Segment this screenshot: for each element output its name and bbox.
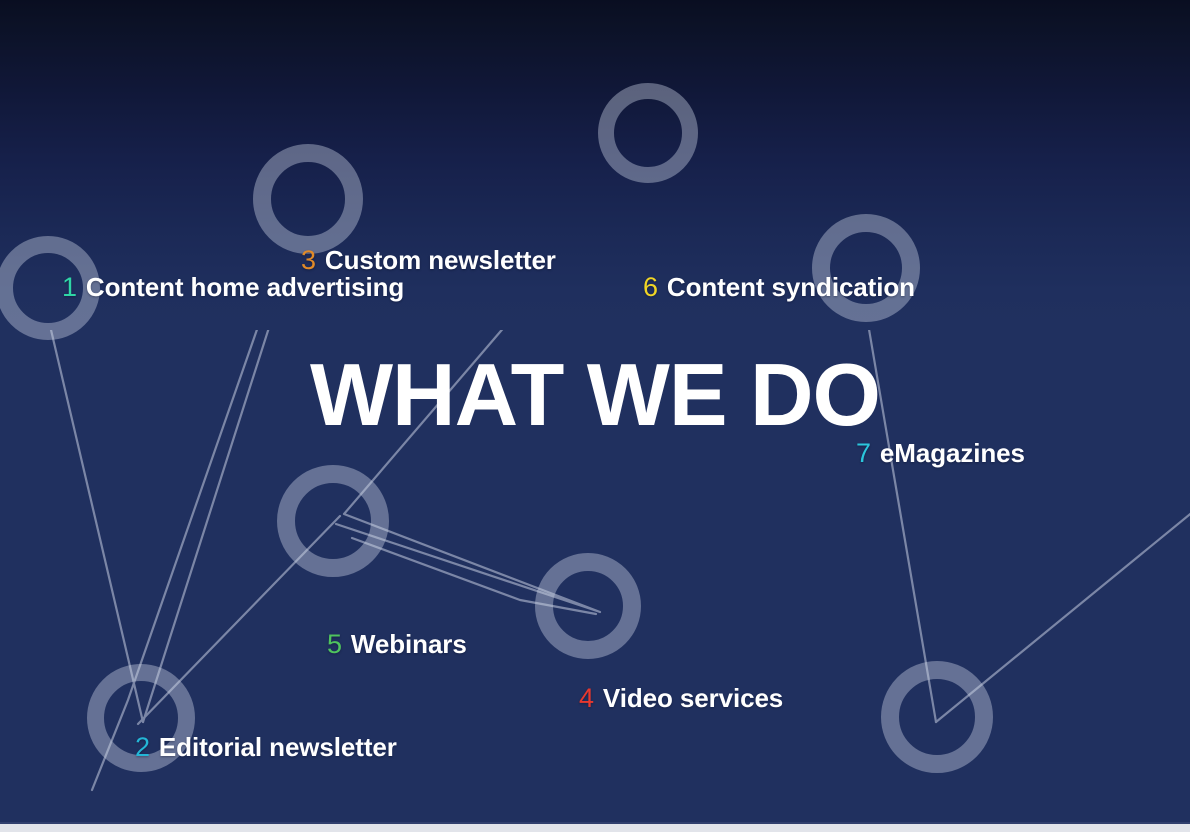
node-label-7: eMagazines bbox=[880, 438, 1025, 469]
node-label-4: Video services bbox=[603, 683, 783, 714]
ring-marker-6 bbox=[598, 83, 698, 183]
node-4[interactable]: 4Video services bbox=[579, 683, 1190, 714]
page-title: WHAT WE DO bbox=[0, 348, 1190, 442]
node-number-3: 3 bbox=[301, 245, 316, 276]
node-5[interactable]: 5Webinars bbox=[327, 629, 1190, 660]
node-7[interactable]: 7eMagazines bbox=[856, 438, 1190, 469]
node-label-2: Editorial newsletter bbox=[159, 732, 397, 763]
node-number-1: 1 bbox=[62, 272, 77, 303]
node-2[interactable]: 2Editorial newsletter bbox=[135, 732, 1190, 763]
bottom-strip bbox=[0, 824, 1190, 832]
node-number-4: 4 bbox=[579, 683, 594, 714]
slide-canvas: 1Content home advertising2Editorial news… bbox=[0, 0, 1190, 832]
node-number-6: 6 bbox=[643, 272, 658, 303]
node-label-3: Custom newsletter bbox=[325, 245, 556, 276]
node-number-5: 5 bbox=[327, 629, 342, 660]
ring-marker-5 bbox=[277, 465, 389, 577]
node-6[interactable]: 6Content syndication bbox=[643, 272, 1190, 303]
node-number-2: 2 bbox=[135, 732, 150, 763]
node-label-1: Content home advertising bbox=[86, 272, 404, 303]
ring-marker-3 bbox=[253, 144, 363, 254]
node-label-5: Webinars bbox=[351, 629, 467, 660]
link-1-2 bbox=[0, 268, 143, 722]
node-label-6: Content syndication bbox=[667, 272, 915, 303]
